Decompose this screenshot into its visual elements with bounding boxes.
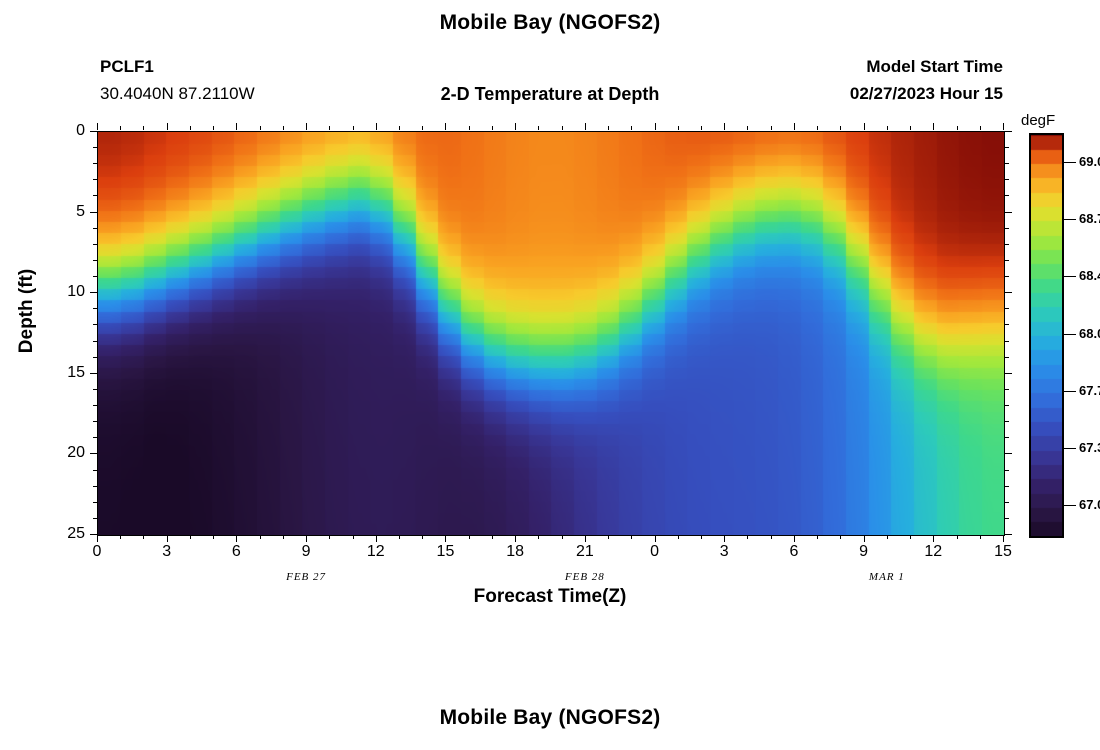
- x-tick-label: 6: [774, 544, 814, 560]
- x-tick-label: 21: [565, 544, 605, 560]
- x-tick-minor-top: [747, 126, 748, 130]
- x-tick-minor-top: [538, 126, 539, 130]
- x-tick-label: 6: [216, 544, 256, 560]
- x-tick-minor-top: [957, 126, 958, 130]
- x-tick-minor: [887, 535, 888, 539]
- x-tick-minor-top: [260, 126, 261, 130]
- x-tick-minor: [910, 535, 911, 539]
- y-tick-minor: [93, 195, 97, 196]
- y-tick-minor: [1005, 308, 1009, 309]
- x-tick-minor-top: [469, 126, 470, 130]
- x-tick-minor-top: [353, 126, 354, 130]
- y-tick-minor: [93, 308, 97, 309]
- x-tick-mark-top: [167, 123, 168, 130]
- x-tick-label: 18: [495, 544, 535, 560]
- temperature-heatmap: [98, 132, 1004, 535]
- y-tick-mark: [90, 373, 97, 374]
- x-tick-minor-top: [771, 126, 772, 130]
- x-axis-date-label: MAR 1: [827, 571, 947, 583]
- x-tick-mark: [933, 535, 934, 542]
- x-tick-minor: [399, 535, 400, 539]
- x-tick-minor: [190, 535, 191, 539]
- y-tick-minor: [93, 357, 97, 358]
- x-tick-minor-top: [910, 126, 911, 130]
- y-tick-minor: [1005, 470, 1009, 471]
- page-title: Mobile Bay (NGOFS2): [0, 11, 1100, 35]
- y-tick-minor: [93, 324, 97, 325]
- x-tick-minor: [329, 535, 330, 539]
- y-tick-mark: [90, 292, 97, 293]
- x-tick-minor-top: [678, 126, 679, 130]
- x-tick-minor-top: [817, 126, 818, 130]
- page-title-bottom: Mobile Bay (NGOFS2): [0, 706, 1100, 730]
- colorbar-tick-mark: [1062, 276, 1076, 277]
- x-tick-minor: [469, 535, 470, 539]
- x-tick-minor-top: [120, 126, 121, 130]
- colorbar-tick-label: 69.0937: [1079, 155, 1100, 168]
- colorbar-tick-label: 67.3750: [1079, 441, 1100, 454]
- x-tick-minor: [213, 535, 214, 539]
- y-tick-label: 25: [45, 526, 85, 542]
- x-tick-mark: [445, 535, 446, 542]
- y-tick-minor: [93, 179, 97, 180]
- x-tick-mark-top: [306, 123, 307, 130]
- y-tick-label: 0: [45, 123, 85, 139]
- y-tick-minor: [1005, 421, 1009, 422]
- colorbar-tick-mark: [1062, 219, 1076, 220]
- colorbar-tick-mark: [1062, 162, 1076, 163]
- colorbar-gradient: [1031, 135, 1062, 536]
- x-tick-minor: [957, 535, 958, 539]
- y-tick-minor: [1005, 163, 1009, 164]
- x-tick-mark-top: [97, 123, 98, 130]
- y-tick-mark: [90, 212, 97, 213]
- colorbar-units-label: degF: [1021, 112, 1055, 129]
- x-tick-minor-top: [887, 126, 888, 130]
- x-tick-mark-top: [724, 123, 725, 130]
- x-tick-label: 3: [704, 544, 744, 560]
- colorbar-tick-label: 68.0625: [1079, 327, 1100, 340]
- x-tick-mark-top: [864, 123, 865, 130]
- colorbar-tick-mark: [1062, 334, 1076, 335]
- x-tick-minor: [422, 535, 423, 539]
- y-tick-mark: [90, 534, 97, 535]
- y-tick-minor: [93, 421, 97, 422]
- x-axis-date-label: FEB 27: [246, 571, 366, 583]
- x-tick-label: 9: [844, 544, 884, 560]
- model-start-time-label: Model Start Time: [703, 57, 1003, 77]
- y-tick-minor: [1005, 486, 1009, 487]
- y-tick-minor: [93, 228, 97, 229]
- y-tick-label: 20: [45, 445, 85, 461]
- y-tick-minor: [93, 502, 97, 503]
- colorbar-tick-mark: [1062, 448, 1076, 449]
- y-tick-minor: [1005, 260, 1009, 261]
- y-axis-label: Depth (ft): [16, 221, 38, 401]
- colorbar-tick-mark: [1062, 505, 1076, 506]
- x-axis-label: Forecast Time(Z): [0, 586, 1100, 608]
- y-tick-minor: [1005, 276, 1009, 277]
- x-tick-minor-top: [631, 126, 632, 130]
- colorbar-tick-label: 68.4062: [1079, 269, 1100, 282]
- y-tick-minor: [93, 260, 97, 261]
- x-tick-mark-top: [1003, 123, 1004, 130]
- x-tick-minor: [701, 535, 702, 539]
- y-tick-minor: [93, 437, 97, 438]
- colorbar-tick-label: 67.7187: [1079, 384, 1100, 397]
- x-tick-minor-top: [213, 126, 214, 130]
- y-tick-label: 15: [45, 365, 85, 381]
- y-tick-label: 10: [45, 284, 85, 300]
- x-tick-minor: [120, 535, 121, 539]
- y-tick-minor: [93, 518, 97, 519]
- y-tick-minor: [93, 276, 97, 277]
- x-tick-minor: [631, 535, 632, 539]
- x-tick-minor: [817, 535, 818, 539]
- x-tick-mark: [724, 535, 725, 542]
- x-tick-minor-top: [283, 126, 284, 130]
- x-tick-minor: [747, 535, 748, 539]
- x-tick-mark-top: [655, 123, 656, 130]
- x-tick-minor-top: [701, 126, 702, 130]
- y-tick-minor: [1005, 389, 1009, 390]
- y-tick-mark-right: [1005, 131, 1012, 132]
- x-tick-minor-top: [980, 126, 981, 130]
- x-tick-minor-top: [562, 126, 563, 130]
- x-tick-mark-top: [445, 123, 446, 130]
- x-tick-minor-top: [422, 126, 423, 130]
- x-tick-mark-top: [515, 123, 516, 130]
- x-tick-label: 9: [286, 544, 326, 560]
- x-tick-mark-top: [933, 123, 934, 130]
- y-tick-minor: [1005, 518, 1009, 519]
- x-tick-minor: [260, 535, 261, 539]
- x-tick-minor: [283, 535, 284, 539]
- y-tick-minor: [1005, 244, 1009, 245]
- x-tick-mark: [655, 535, 656, 542]
- y-tick-mark-right: [1005, 453, 1012, 454]
- y-tick-minor: [1005, 324, 1009, 325]
- x-tick-mark-top: [794, 123, 795, 130]
- x-tick-minor-top: [399, 126, 400, 130]
- x-tick-mark: [515, 535, 516, 542]
- colorbar-tick-mark: [1062, 391, 1076, 392]
- y-tick-minor: [93, 470, 97, 471]
- x-tick-minor: [562, 535, 563, 539]
- x-tick-mark-top: [376, 123, 377, 130]
- y-tick-mark-right: [1005, 534, 1012, 535]
- y-tick-minor: [93, 389, 97, 390]
- x-tick-minor: [608, 535, 609, 539]
- y-tick-minor: [1005, 228, 1009, 229]
- x-tick-minor: [143, 535, 144, 539]
- y-tick-minor: [1005, 195, 1009, 196]
- x-tick-minor: [678, 535, 679, 539]
- y-tick-mark-right: [1005, 212, 1012, 213]
- x-tick-mark: [236, 535, 237, 542]
- x-tick-minor: [492, 535, 493, 539]
- x-axis-date-label: FEB 28: [525, 571, 645, 583]
- x-tick-minor-top: [608, 126, 609, 130]
- station-id: PCLF1: [100, 57, 154, 77]
- y-tick-minor: [1005, 405, 1009, 406]
- x-tick-minor-top: [840, 126, 841, 130]
- model-start-time-value: 02/27/2023 Hour 15: [703, 84, 1003, 104]
- x-tick-minor-top: [190, 126, 191, 130]
- x-tick-mark: [167, 535, 168, 542]
- heatmap-plot-area: [97, 131, 1005, 536]
- x-tick-label: 15: [425, 544, 465, 560]
- x-tick-mark: [585, 535, 586, 542]
- y-tick-minor: [93, 163, 97, 164]
- x-tick-minor: [840, 535, 841, 539]
- y-tick-minor: [1005, 502, 1009, 503]
- x-tick-minor: [538, 535, 539, 539]
- y-tick-minor: [1005, 357, 1009, 358]
- colorbar-tick-label: 68.7500: [1079, 212, 1100, 225]
- x-tick-label: 12: [913, 544, 953, 560]
- y-tick-mark: [90, 453, 97, 454]
- x-tick-mark: [97, 535, 98, 542]
- y-tick-minor: [93, 147, 97, 148]
- y-tick-mark-right: [1005, 373, 1012, 374]
- y-tick-minor: [1005, 147, 1009, 148]
- x-tick-minor: [353, 535, 354, 539]
- x-tick-mark: [306, 535, 307, 542]
- x-tick-mark: [376, 535, 377, 542]
- y-tick-mark: [90, 131, 97, 132]
- x-tick-label: 15: [983, 544, 1023, 560]
- colorbar: [1029, 133, 1064, 538]
- x-tick-mark: [1003, 535, 1004, 542]
- y-tick-label: 5: [45, 204, 85, 220]
- x-tick-label: 0: [635, 544, 675, 560]
- x-tick-minor-top: [143, 126, 144, 130]
- x-tick-minor-top: [492, 126, 493, 130]
- y-tick-minor: [93, 486, 97, 487]
- y-tick-minor: [93, 341, 97, 342]
- x-tick-label: 0: [77, 544, 117, 560]
- x-tick-mark-top: [585, 123, 586, 130]
- y-tick-mark-right: [1005, 292, 1012, 293]
- x-tick-label: 12: [356, 544, 396, 560]
- y-tick-minor: [1005, 179, 1009, 180]
- x-tick-mark: [794, 535, 795, 542]
- x-tick-minor-top: [329, 126, 330, 130]
- y-tick-minor: [1005, 341, 1009, 342]
- y-tick-minor: [93, 405, 97, 406]
- y-tick-minor: [1005, 437, 1009, 438]
- x-tick-label: 3: [147, 544, 187, 560]
- y-tick-minor: [93, 244, 97, 245]
- x-tick-mark: [864, 535, 865, 542]
- x-tick-mark-top: [236, 123, 237, 130]
- x-tick-minor: [771, 535, 772, 539]
- colorbar-tick-label: 67.0312: [1079, 498, 1100, 511]
- x-tick-minor: [980, 535, 981, 539]
